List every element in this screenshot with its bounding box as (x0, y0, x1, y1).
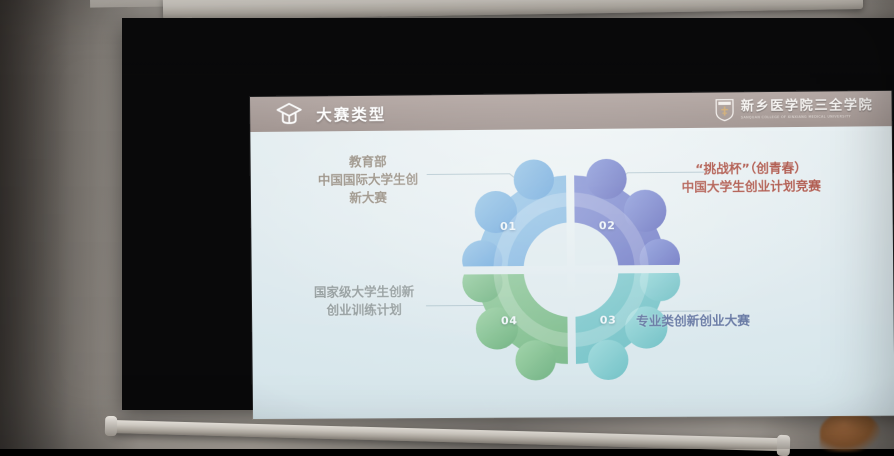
wall-streak (0, 0, 70, 449)
slide-title-bar: 大赛类型 新乡医学院三全学院 SANQUAN COLLEGE OF XINXIA… (250, 91, 892, 132)
university-logo: 新乡医学院三全学院 SANQUAN COLLEGE OF XINXIANG ME… (715, 97, 873, 122)
label-segment-03: 专业类创新创业大赛 (636, 311, 859, 331)
label-segment-01: 教育部 中国国际大学生创 新大赛 (273, 152, 464, 208)
university-name-en: SANQUAN COLLEGE OF XINXIANG MEDICAL UNIV… (741, 114, 874, 119)
label-01-line-1: 教育部 (273, 152, 464, 172)
label-02-line-1: “挑战杯”（创青春） (633, 159, 870, 179)
university-name-cn: 新乡医学院三全学院 (741, 99, 874, 113)
projected-slide: 大赛类型 新乡医学院三全学院 SANQUAN COLLEGE OF XINXIA… (250, 91, 894, 419)
screen-weight-bar-cap-left (105, 416, 118, 436)
label-04-line-2: 创业训练计划 (264, 301, 465, 320)
gear-segment-number-02: 02 (599, 219, 616, 232)
slide-canvas: 01 02 03 04 教育部 中国国际大学生创 新大赛 “挑战杯”（创青春） … (250, 126, 894, 419)
projection-screen: 大赛类型 新乡医学院三全学院 SANQUAN COLLEGE OF XINXIA… (122, 18, 894, 416)
screen-weight-bar-cap-right (777, 435, 791, 456)
label-segment-02: “挑战杯”（创青春） 中国大学生创业计划竞赛 (633, 159, 871, 197)
label-segment-04: 国家级大学生创新 创业训练计划 (264, 283, 465, 321)
page-title: 大赛类型 (316, 102, 386, 125)
label-03-line-1: 专业类创新创业大赛 (636, 311, 859, 331)
label-01-line-3: 新大赛 (273, 188, 464, 208)
graduation-cap-icon (276, 103, 302, 126)
gear-segment-number-01: 01 (500, 220, 517, 233)
label-02-line-2: 中国大学生创业计划竞赛 (633, 177, 870, 197)
gear-segment-number-03: 03 (600, 314, 617, 327)
label-01-line-2: 中国国际大学生创 (273, 170, 464, 190)
university-crest-icon (715, 98, 734, 121)
gear-segment-number-04: 04 (501, 314, 518, 327)
label-04-line-1: 国家级大学生创新 (264, 283, 465, 303)
floor-object (820, 412, 880, 452)
